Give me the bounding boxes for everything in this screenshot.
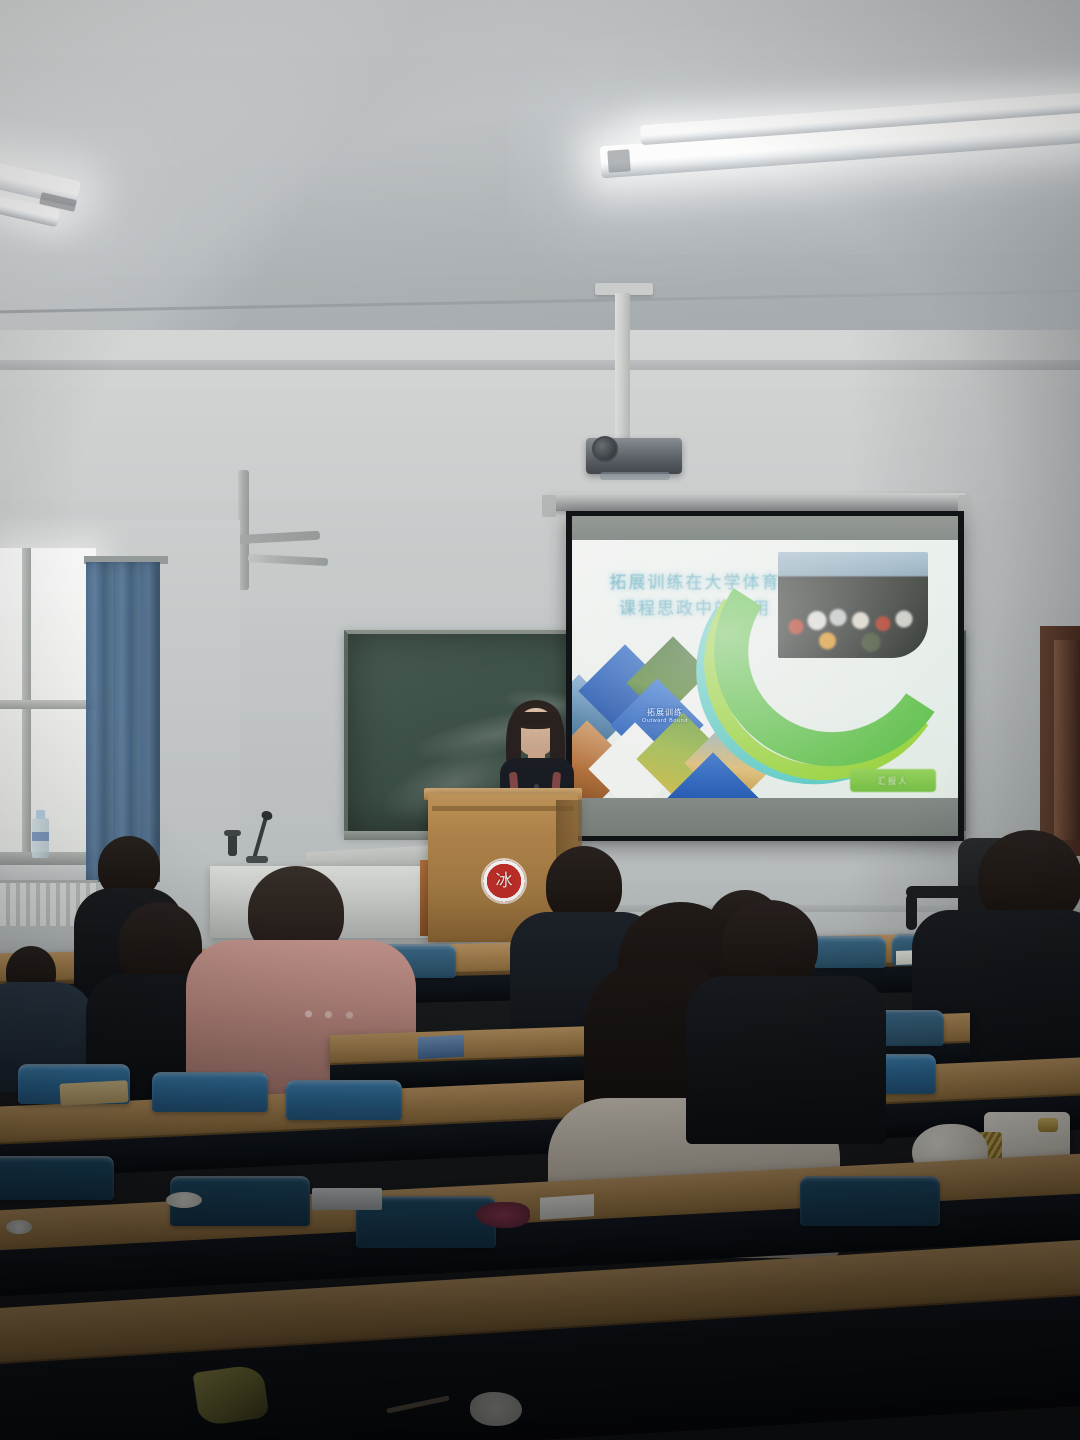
light-fixture-bracket-right	[607, 149, 630, 172]
emblem-glyph: 冰	[496, 873, 513, 890]
water-bottle	[32, 818, 49, 858]
screen-blank-bottom	[572, 798, 958, 836]
yellow-wrapper	[193, 1363, 270, 1426]
chair-arm-post	[906, 894, 917, 930]
person-head	[722, 900, 818, 988]
pink-object	[476, 1202, 530, 1228]
microphone-base	[246, 856, 268, 863]
control-knob	[228, 834, 237, 856]
presentation-slide: 拓展训练在大学体育 课程思政中的应用 拓展训练	[572, 540, 958, 808]
collage-label-cn: 拓展训练	[624, 708, 706, 718]
seat[interactable]	[152, 1072, 268, 1112]
shirt-stitch-detail	[302, 1008, 368, 1020]
ceiling-highlight	[0, 0, 420, 330]
screen-blank-top	[572, 516, 958, 540]
seat[interactable]	[0, 1156, 114, 1200]
projection-screen: 拓展训练在大学体育 课程思政中的应用 拓展训练	[566, 511, 964, 841]
collage-label: 拓展训练 Outward Bound	[624, 708, 706, 725]
collage-label-en: Outward Bound	[624, 718, 706, 725]
slide-arc-graphic	[754, 546, 958, 786]
notebook	[418, 1035, 464, 1059]
ceiling	[0, 0, 1080, 360]
slide-presenter-button: 汇报人	[850, 769, 936, 792]
podium-shelf-line	[432, 806, 574, 811]
lecture-hall-photo: 拓展训练在大学体育 课程思政中的应用 拓展训练	[0, 0, 1080, 1440]
projector-mount-pole	[615, 293, 630, 443]
audience-person	[700, 900, 880, 1140]
window-mullion-horizontal	[0, 700, 96, 709]
paper-sheet	[540, 1194, 594, 1220]
tissue-debris	[166, 1192, 202, 1208]
torn-seat-patch	[59, 1080, 128, 1106]
person-torso	[686, 976, 886, 1144]
screen-canvas: 拓展训练在大学体育 课程思政中的应用 拓展训练	[572, 516, 958, 836]
door-panel	[1054, 640, 1080, 840]
tissue-debris	[470, 1392, 522, 1426]
handbag-clasp-icon	[1038, 1118, 1058, 1132]
projector-lens-icon	[592, 436, 618, 462]
seat[interactable]	[286, 1080, 402, 1120]
screen-roller-housing	[548, 493, 966, 511]
seat[interactable]	[800, 1176, 940, 1226]
window-curtain	[86, 562, 160, 882]
box-debris	[312, 1188, 382, 1210]
slide-photo-crowd	[778, 552, 928, 658]
projector-bracket	[600, 472, 670, 480]
tissue-debris	[6, 1220, 32, 1234]
crowd-imagery	[778, 580, 928, 658]
